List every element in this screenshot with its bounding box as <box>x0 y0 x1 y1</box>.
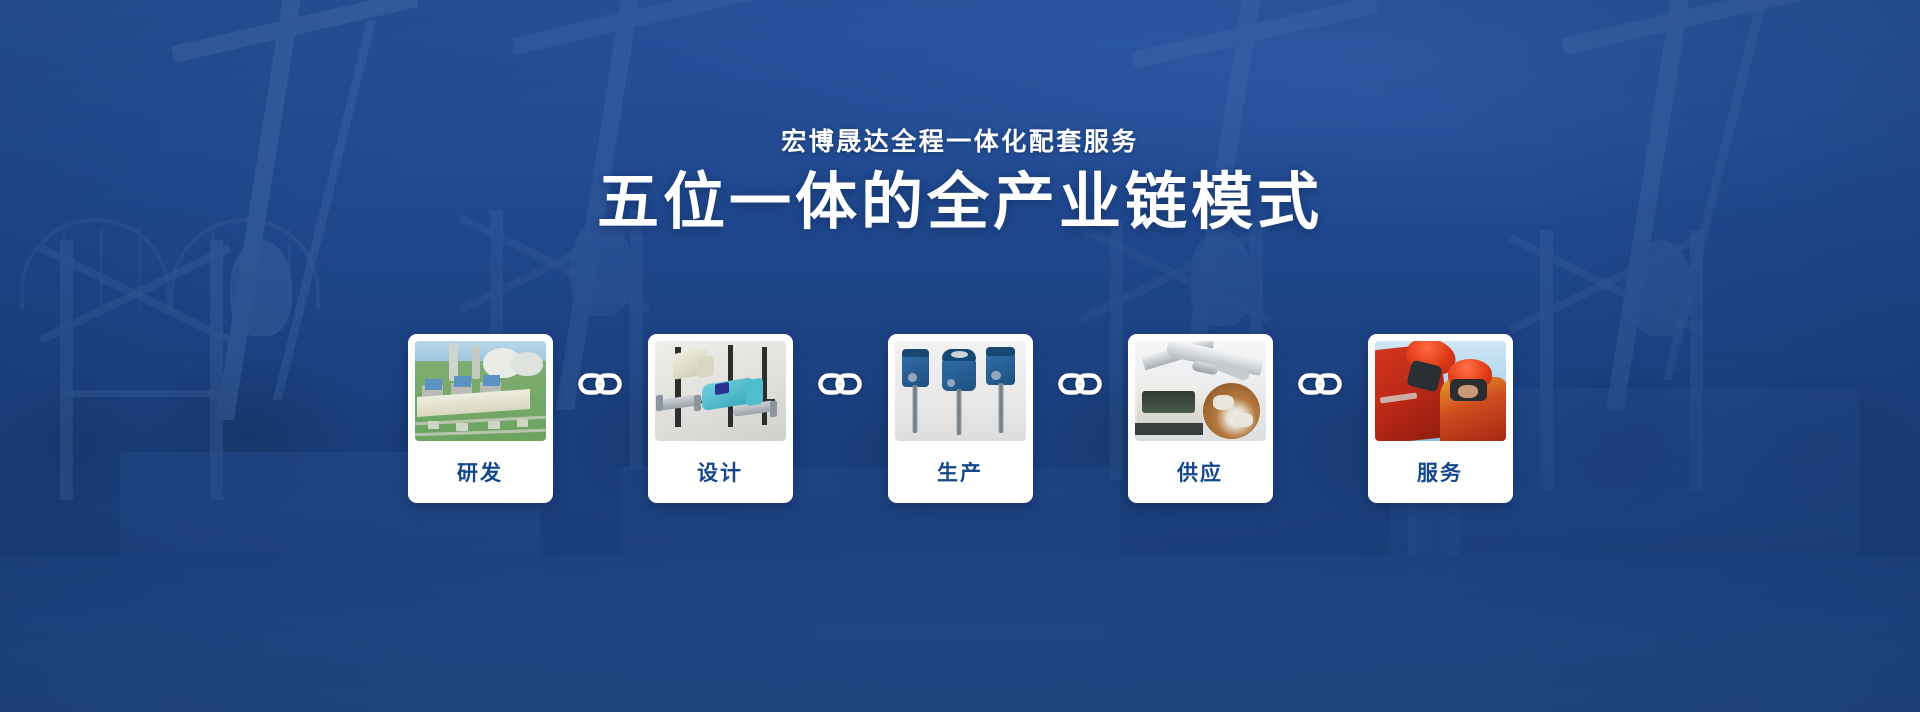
chain-link-icon <box>1298 371 1342 397</box>
banner-content: 宏博晟达全程一体化配套服务 五位一体的全产业链模式 研 <box>0 0 1920 712</box>
chain-card-label: 研发 <box>415 441 546 503</box>
chain-link-icon <box>578 371 622 397</box>
value-chain-row: 研发 <box>0 334 1920 503</box>
logistics-plane-truck-globe-photo <box>1135 341 1266 441</box>
chain-link-icon <box>818 371 862 397</box>
industrial-plant-photo <box>415 341 546 441</box>
chain-link-connector-4 <box>1273 334 1368 434</box>
cad-pump-render-photo <box>655 341 786 441</box>
chain-link-connector-3 <box>1033 334 1128 434</box>
chain-link-icon <box>1058 371 1102 397</box>
field-service-workers-photo <box>1375 341 1506 441</box>
banner-title: 五位一体的全产业链模式 <box>0 168 1920 237</box>
chain-card-production[interactable]: 生产 <box>888 334 1033 503</box>
chain-link-connector-2 <box>793 334 888 434</box>
chain-card-design[interactable]: 设计 <box>648 334 793 503</box>
chain-card-label: 生产 <box>895 441 1026 503</box>
chain-card-label: 供应 <box>1135 441 1266 503</box>
banner-subtitle: 宏博晟达全程一体化配套服务 <box>0 122 1920 158</box>
chain-card-rnd[interactable]: 研发 <box>408 334 553 503</box>
chain-card-label: 设计 <box>655 441 786 503</box>
level-sensor-instruments-photo <box>895 341 1026 441</box>
chain-card-supply[interactable]: 供应 <box>1128 334 1273 503</box>
chain-card-label: 服务 <box>1375 441 1506 503</box>
chain-card-service[interactable]: 服务 <box>1368 334 1513 503</box>
hero-banner: 宏博晟达全程一体化配套服务 五位一体的全产业链模式 研 <box>0 0 1920 712</box>
chain-link-connector-1 <box>553 334 648 434</box>
